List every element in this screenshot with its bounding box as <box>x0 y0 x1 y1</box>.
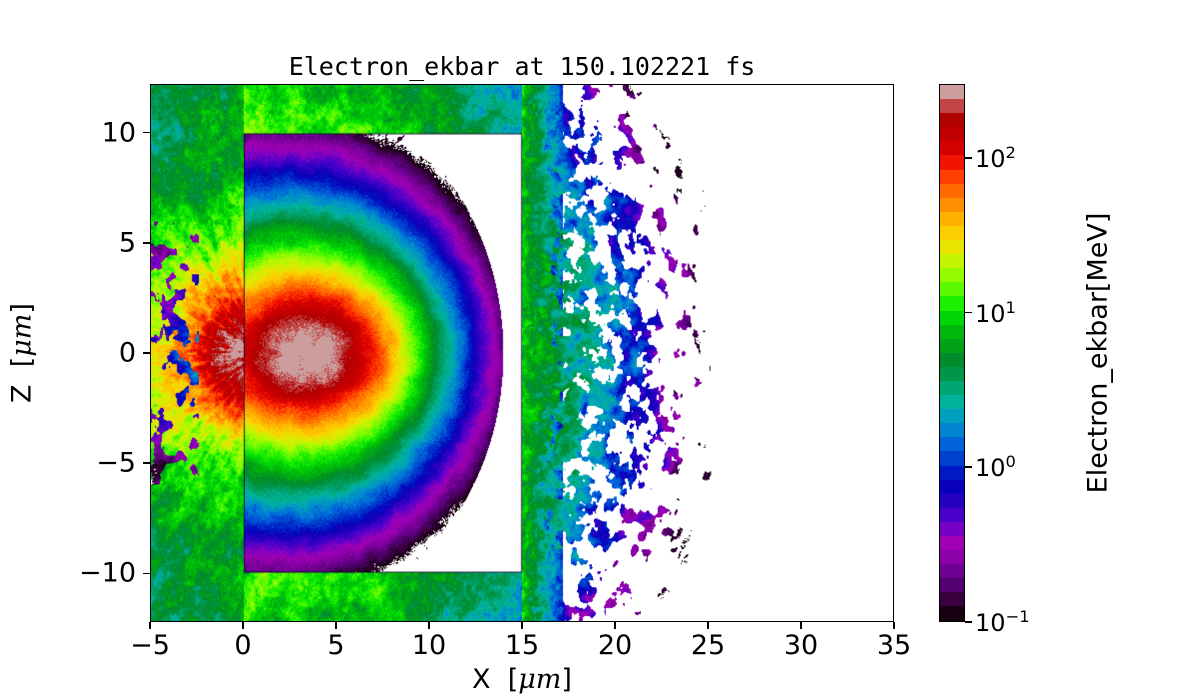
x-tick-label: 25 <box>691 630 725 661</box>
colorbar-segment <box>940 423 964 437</box>
colorbar-label: Electron_ekbar[MeV] <box>1083 213 1114 494</box>
colorbar-segment <box>940 339 964 353</box>
y-axis-label-main: Z <box>7 384 38 403</box>
y-tick-label: 0 <box>119 338 136 369</box>
colorbar-segment <box>940 606 964 620</box>
y-tick-label: −10 <box>79 558 136 589</box>
colorbar-segment <box>940 296 964 310</box>
colorbar-segment <box>940 466 964 480</box>
colorbar-segment <box>940 240 964 254</box>
y-tick-label: −5 <box>96 448 136 479</box>
colorbar-tick-label: 10−1 <box>975 607 1030 637</box>
x-tick-mark <box>614 622 616 629</box>
y-tick-mark <box>143 132 150 134</box>
y-tick-mark <box>143 462 150 464</box>
x-tick-mark <box>335 622 337 629</box>
colorbar-segment <box>940 409 964 423</box>
y-tick-label: 10 <box>102 117 136 148</box>
colorbar-segment <box>940 592 964 606</box>
colorbar-segment <box>940 522 964 536</box>
colorbar-segment <box>940 494 964 508</box>
colorbar-segment <box>940 212 964 226</box>
colorbar-segment <box>940 325 964 339</box>
colorbar-segment <box>940 311 964 325</box>
colorbar-segment <box>940 184 964 198</box>
y-tick-label: 5 <box>119 227 136 258</box>
plot-axes-area[interactable] <box>150 84 894 622</box>
colorbar-segment <box>940 99 964 113</box>
x-tick-label: −5 <box>130 630 170 661</box>
colorbar-segment <box>940 367 964 381</box>
x-axis-label-main: X <box>472 664 491 695</box>
colorbar-tick-mark <box>965 621 972 623</box>
colorbar-segment <box>940 127 964 141</box>
colorbar-segment <box>940 451 964 465</box>
colorbar-segment <box>940 282 964 296</box>
y-tick-mark <box>143 573 150 575</box>
x-tick-label: 10 <box>412 630 446 661</box>
x-tick-label: 0 <box>234 630 251 661</box>
colorbar-segment <box>940 536 964 550</box>
y-tick-mark <box>143 352 150 354</box>
colorbar-segment <box>940 254 964 268</box>
colorbar-segment <box>940 155 964 169</box>
colorbar-segment <box>940 381 964 395</box>
colorbar-segment <box>940 268 964 282</box>
colorbar-tick-mark <box>965 312 972 314</box>
x-tick-mark <box>521 622 523 629</box>
colorbar[interactable] <box>939 84 965 622</box>
colorbar-segment <box>940 395 964 409</box>
x-axis-label: X [μm] <box>150 664 894 695</box>
colorbar-segment <box>940 113 964 127</box>
colorbar-segment <box>940 437 964 451</box>
colorbar-tick-label: 102 <box>975 143 1016 173</box>
x-tick-label: 20 <box>598 630 632 661</box>
x-tick-mark <box>149 622 151 629</box>
colorbar-segment <box>940 550 964 564</box>
colorbar-segment <box>940 85 964 99</box>
x-tick-label: 35 <box>877 630 911 661</box>
colorbar-segment <box>940 578 964 592</box>
colorbar-tick-label: 101 <box>975 298 1016 328</box>
x-tick-mark <box>893 622 895 629</box>
x-tick-mark <box>800 622 802 629</box>
x-tick-label: 15 <box>505 630 539 661</box>
colorbar-segment <box>940 564 964 578</box>
colorbar-tick-mark <box>965 157 972 159</box>
x-tick-label: 5 <box>327 630 344 661</box>
page-title: Electron_ekbar at 150.102221 fs <box>150 52 894 81</box>
colorbar-segment <box>940 141 964 155</box>
colorbar-segment <box>940 353 964 367</box>
x-tick-mark <box>707 622 709 629</box>
colorbar-segment <box>940 480 964 494</box>
heatmap-canvas <box>151 85 893 621</box>
colorbar-segment <box>940 198 964 212</box>
x-tick-mark <box>428 622 430 629</box>
x-tick-mark <box>242 622 244 629</box>
colorbar-tick-label: 100 <box>975 452 1016 482</box>
x-tick-label: 30 <box>784 630 818 661</box>
y-tick-mark <box>143 242 150 244</box>
colorbar-segment <box>940 170 964 184</box>
figure-canvas: Electron_ekbar at 150.102221 fs −5051015… <box>0 0 1200 700</box>
y-axis-label: Z [μm] <box>7 303 38 403</box>
colorbar-tick-mark <box>965 466 972 468</box>
colorbar-segment <box>940 226 964 240</box>
colorbar-segment <box>940 508 964 522</box>
